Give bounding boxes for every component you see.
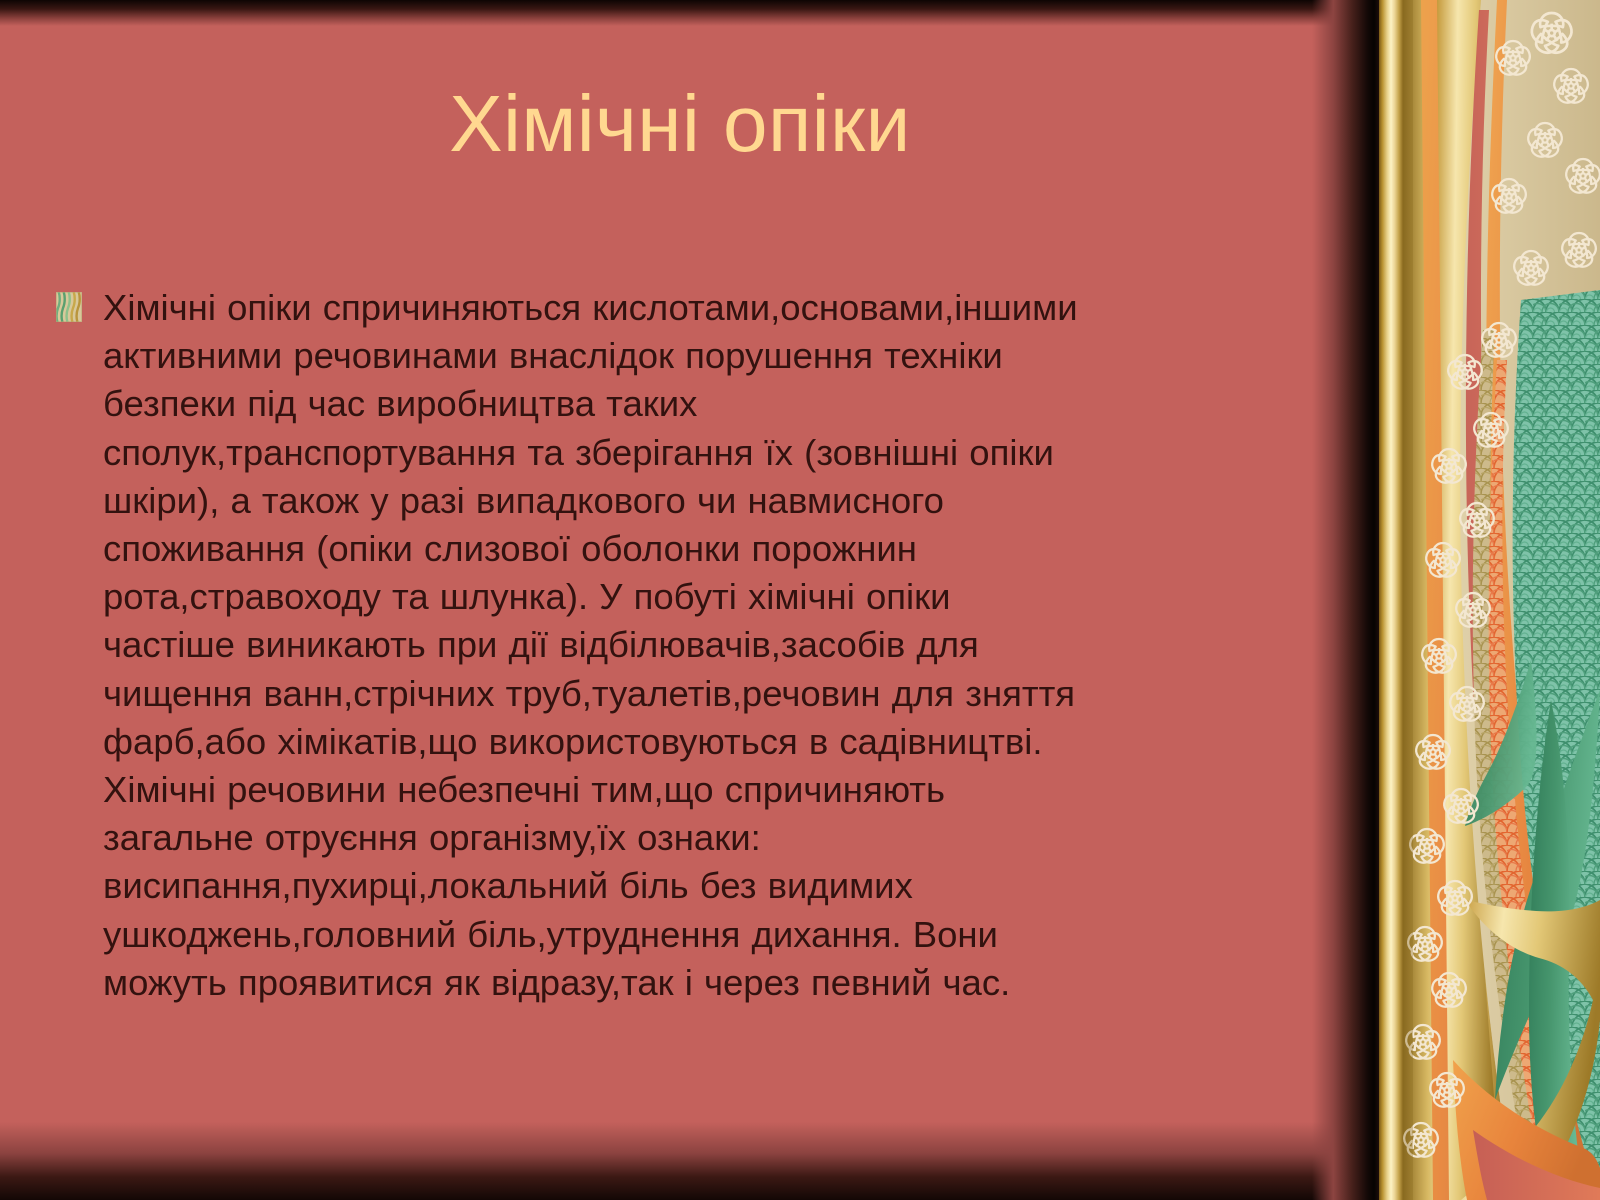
paragraph-line: можуть проявитися як відразу,так і через…	[103, 959, 1296, 1007]
gold-ribbon-bar	[1379, 0, 1403, 1200]
paragraph-line: чищення ванн,стрічних труб,туалетів,речо…	[103, 670, 1296, 718]
slide-content-area: Хімічні опіки Хімічні опіки спр	[0, 0, 1368, 1200]
decorative-side-border	[1368, 0, 1600, 1200]
paragraph-line: загальне отруєння організму,їх ознаки:	[103, 814, 1296, 862]
plum-blossom-decoration-panel	[1403, 0, 1600, 1200]
paragraph-line: Хімічні речовини небезпечні тим,що сприч…	[103, 766, 1296, 814]
paragraph-line: висипання,пухирці,локальний біль без вид…	[103, 862, 1296, 910]
paragraph-line: рота,стравоходу та шлунка). У побуті хім…	[103, 573, 1296, 621]
paragraph-line: активними речовинами внаслідок порушення…	[103, 332, 1296, 380]
paragraph-line: сполук,транспортування та зберігання їх …	[103, 429, 1296, 477]
bullet-list-item: Хімічні опіки спричиняються кислотами,ос…	[56, 284, 1296, 1007]
paragraph-line: Хімічні опіки спричиняються кислотами,ос…	[103, 284, 1296, 332]
right-shadow-gradient	[1312, 0, 1368, 1200]
slide: Хімічні опіки Хімічні опіки спр	[0, 0, 1600, 1200]
paragraph-line: частіше виникають при дії відбілювачів,з…	[103, 621, 1296, 669]
body-paragraph: Хімічні опіки спричиняються кислотами,ос…	[103, 284, 1296, 1007]
paragraph-line: безпеки під час виробництва таких	[103, 380, 1296, 428]
top-shadow-gradient	[0, 0, 1368, 26]
bottom-shadow-gradient	[0, 1122, 1368, 1200]
paragraph-line: ушкоджень,головний біль,утруднення дихан…	[103, 911, 1296, 959]
decorative-swirl-square-bullet-icon	[56, 292, 82, 322]
black-edge-strip	[1368, 0, 1379, 1200]
slide-title: Хімічні опіки	[60, 84, 1300, 164]
paragraph-line: споживання (опіки слизової оболонки поро…	[103, 525, 1296, 573]
paragraph-line: фарб,або хімікатів,що використовуються в…	[103, 718, 1296, 766]
paragraph-line: шкіри), а також у разі випадкового чи на…	[103, 477, 1296, 525]
